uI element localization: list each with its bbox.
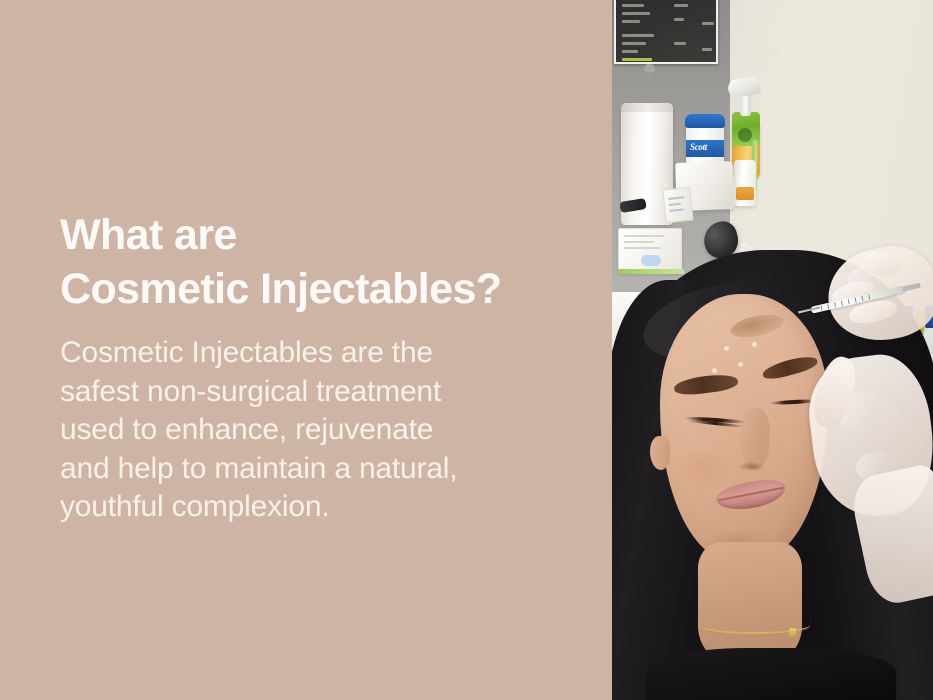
- gold-necklace: [698, 616, 810, 634]
- slide-root: What are Cosmetic Injectables? Cosmetic …: [0, 0, 933, 700]
- headline-line-1: What are: [60, 208, 590, 262]
- wipes-lid: [685, 114, 725, 128]
- necklace-charm: [789, 628, 796, 637]
- wipes-brand-text: Scott: [690, 142, 707, 152]
- body-line-1: Cosmetic Injectables are the: [60, 334, 580, 373]
- price-board-sign: [614, 0, 718, 64]
- white-bottle: [734, 160, 756, 206]
- clinic-photo: Scott: [612, 0, 933, 700]
- supply-packet: [662, 187, 693, 224]
- body-copy: Cosmetic Injectables are the safest non-…: [60, 334, 580, 527]
- body-line-5: youthful complexion.: [60, 488, 580, 527]
- black-top: [646, 648, 896, 700]
- page-title: What are Cosmetic Injectables?: [60, 208, 590, 316]
- wipes-label: Scott: [686, 140, 724, 157]
- body-line-3: used to enhance, rejuvenate: [60, 411, 580, 450]
- ear: [650, 436, 670, 470]
- nostril: [738, 462, 764, 471]
- neck: [698, 542, 802, 662]
- headline-line-2: Cosmetic Injectables?: [60, 262, 590, 316]
- nose: [740, 408, 770, 470]
- cheek: [676, 448, 730, 488]
- body-line-2: safest non-surgical treatment: [60, 373, 580, 412]
- text-panel: What are Cosmetic Injectables? Cosmetic …: [0, 0, 612, 700]
- body-line-4: and help to maintain a natural,: [60, 450, 580, 489]
